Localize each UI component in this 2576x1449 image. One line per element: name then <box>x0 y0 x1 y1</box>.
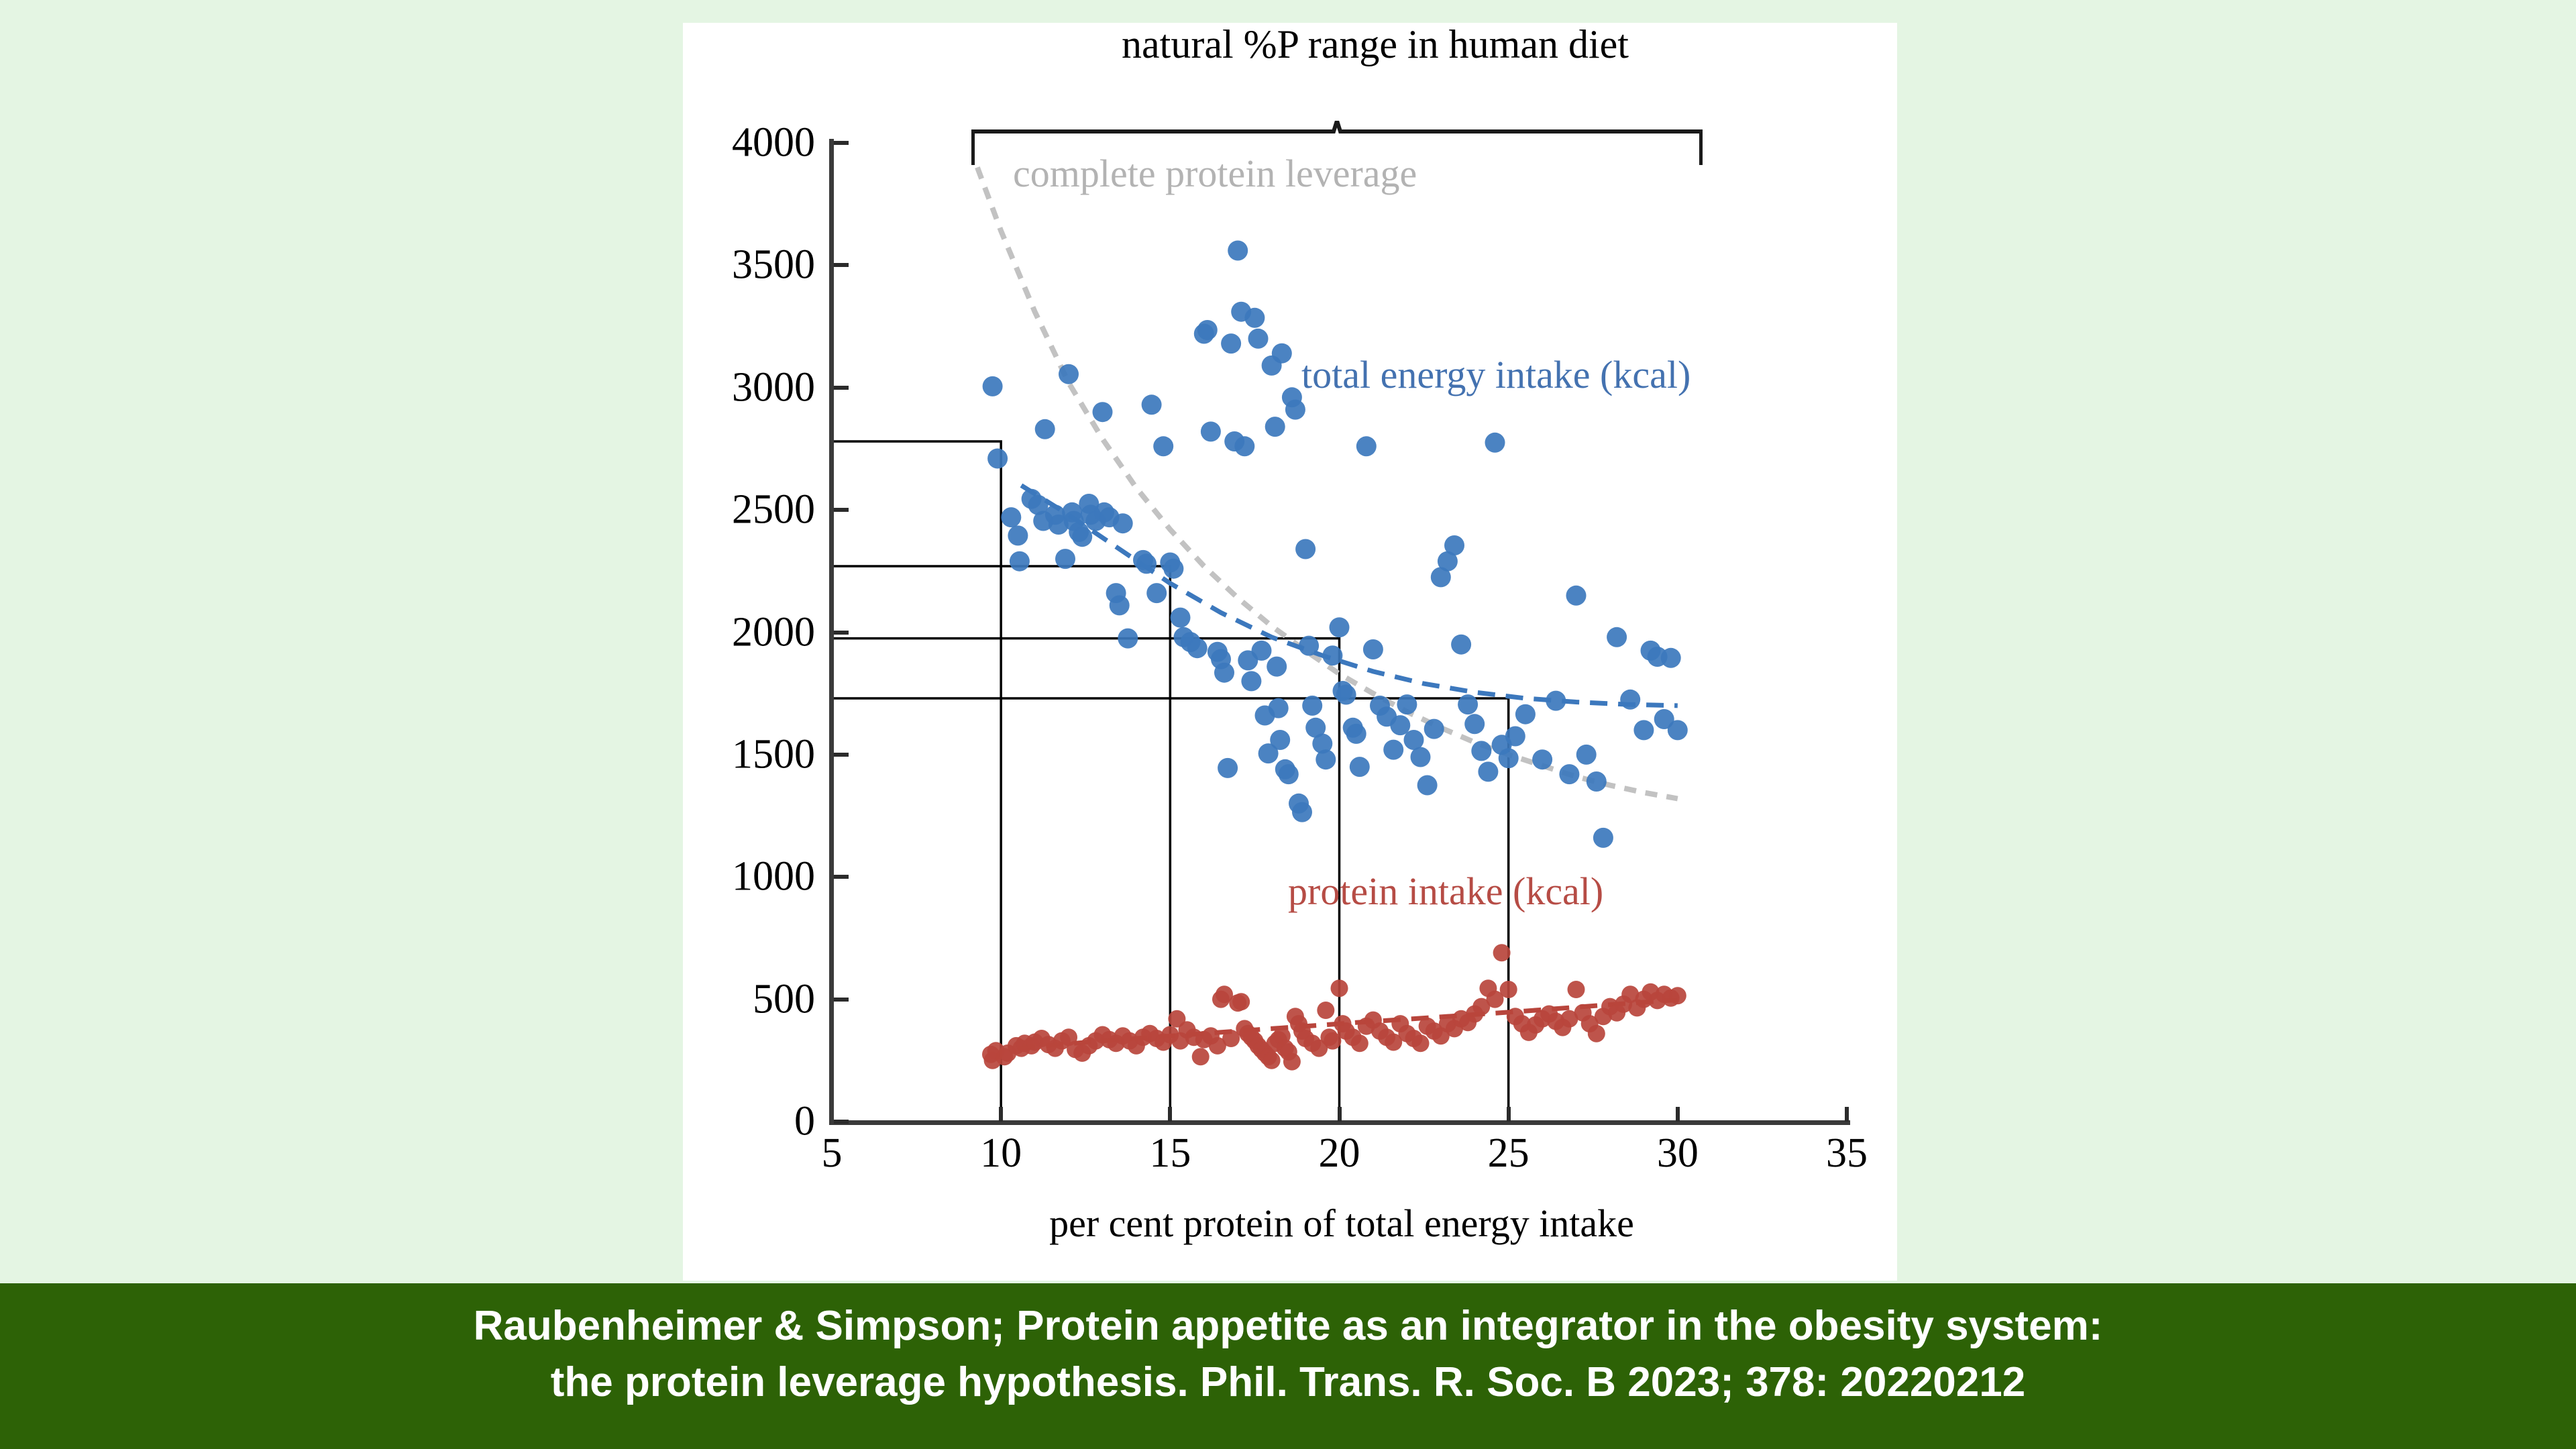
y-axis-line <box>829 139 834 1125</box>
y-tick-mark <box>834 508 849 512</box>
x-tick-mark <box>999 1107 1003 1122</box>
y-tick-label: 1500 <box>681 731 815 778</box>
x-tick-label: 15 <box>1116 1130 1224 1177</box>
y-tick-label: 2500 <box>681 486 815 534</box>
legend-protein-intake: protein intake (kcal) <box>1288 869 1603 914</box>
y-tick-mark <box>834 998 849 1002</box>
y-tick-label: 3500 <box>681 241 815 289</box>
range-bracket-label: natural %P range in human diet <box>939 21 1811 68</box>
y-tick-label: 500 <box>681 975 815 1023</box>
legend-total-energy-intake: total energy intake (kcal) <box>1301 352 1690 397</box>
y-tick-mark <box>834 263 849 267</box>
y-tick-label: 4000 <box>681 119 815 167</box>
slide-stage: natural %P range in human diet 050010001… <box>0 0 2576 1449</box>
x-tick-label: 10 <box>947 1130 1055 1177</box>
y-tick-label: 3000 <box>681 364 815 411</box>
y-tick-label: 1000 <box>681 853 815 901</box>
x-tick-mark <box>1338 1107 1342 1122</box>
y-tick-mark <box>834 386 849 390</box>
y-tick-mark <box>834 875 849 879</box>
x-tick-mark <box>1168 1107 1172 1122</box>
x-tick-label: 25 <box>1455 1130 1562 1177</box>
y-tick-mark <box>834 631 849 635</box>
figure-panel <box>683 23 1897 1281</box>
caption-line-2: the protein leverage hypothesis. Phil. T… <box>0 1354 2576 1411</box>
y-tick-label: 2000 <box>681 608 815 656</box>
x-tick-label: 5 <box>778 1130 885 1177</box>
y-tick-mark <box>834 1120 849 1124</box>
caption-line-1: Raubenheimer & Simpson; Protein appetite… <box>0 1298 2576 1354</box>
y-tick-mark <box>834 753 849 757</box>
x-tick-label: 20 <box>1286 1130 1393 1177</box>
x-tick-label: 30 <box>1624 1130 1731 1177</box>
source-caption-bar: Raubenheimer & Simpson; Protein appetite… <box>0 1283 2576 1449</box>
y-tick-mark <box>834 141 849 145</box>
legend-complete-protein-leverage: complete protein leverage <box>1013 151 1417 196</box>
x-tick-mark <box>1676 1107 1680 1122</box>
x-tick-mark <box>1507 1107 1511 1122</box>
x-axis-caption: per cent protein of total energy intake <box>778 1201 1905 1246</box>
x-tick-label: 35 <box>1793 1130 1900 1177</box>
x-tick-mark <box>1845 1107 1849 1122</box>
